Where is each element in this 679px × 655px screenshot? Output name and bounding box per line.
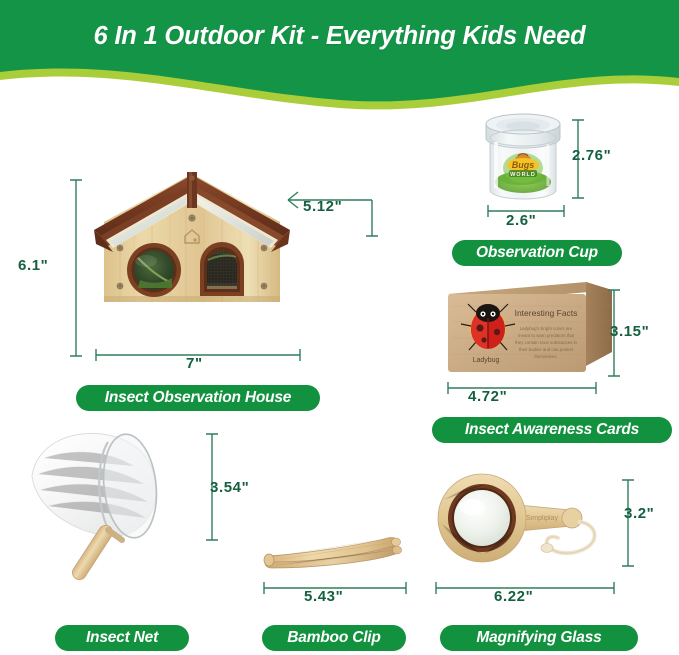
card-heading-text: Interesting Facts [515, 308, 578, 318]
product-infographic: 6 In 1 Outdoor Kit - Everything Kids Nee… [0, 0, 679, 655]
dimension-house-roof-slope: 5.12" [303, 198, 342, 215]
insect-awareness-cards-image: Interesting Facts Ladybug's bright color… [440, 276, 615, 380]
bugs-world-logo: Bugs WORLD [503, 153, 543, 183]
svg-text:themselves.: themselves. [534, 354, 557, 359]
dimension-clip-length: 5.43" [304, 588, 343, 605]
dimension-cards-height: 3.15" [610, 323, 649, 340]
insect-observation-house-image [82, 160, 302, 365]
dimension-magnifier-length: 6.22" [494, 588, 533, 605]
dimension-house-height: 6.1" [18, 257, 48, 274]
page-title: 6 In 1 Outdoor Kit - Everything Kids Nee… [0, 22, 679, 51]
dimension-house-width: 7" [186, 355, 203, 372]
magnifier-brand-text: Simpliplay [526, 515, 558, 522]
observation-cup-image: Bugs WORLD [478, 106, 568, 204]
header-wave-shape [0, 0, 679, 118]
label-bamboo-clip: Bamboo Clip [262, 625, 406, 651]
label-insect-net: Insect Net [55, 625, 189, 651]
svg-text:meant to warn predators that: meant to warn predators that [518, 333, 575, 338]
card-caption-text: Ladybug [473, 357, 500, 364]
svg-text:Bugs: Bugs [512, 160, 535, 170]
dimension-magnifier-height: 3.2" [624, 505, 654, 522]
svg-text:their bodies and can protect: their bodies and can protect [519, 347, 574, 352]
header-banner: 6 In 1 Outdoor Kit - Everything Kids Nee… [0, 0, 679, 118]
label-magnifying-glass: Magnifying Glass [440, 625, 638, 651]
label-insect-observation-house: Insect Observation House [76, 385, 320, 411]
svg-text:they contain toxic substances: they contain toxic substances in [515, 340, 578, 345]
magnifying-glass-image: Simpliplay [430, 470, 640, 580]
dimension-cards-width: 4.72" [468, 388, 507, 405]
svg-text:Ladybug's bright colors are: Ladybug's bright colors are [520, 326, 573, 331]
dimension-cup-width: 2.6" [506, 212, 536, 229]
insect-net-image [22, 424, 202, 584]
svg-text:WORLD: WORLD [510, 172, 536, 178]
bamboo-clip-image [258, 534, 408, 574]
label-insect-awareness-cards: Insect Awareness Cards [432, 417, 672, 443]
label-observation-cup: Observation Cup [452, 240, 622, 266]
dimension-cup-height: 2.76" [572, 147, 611, 164]
dimension-net-height: 3.54" [210, 479, 249, 496]
